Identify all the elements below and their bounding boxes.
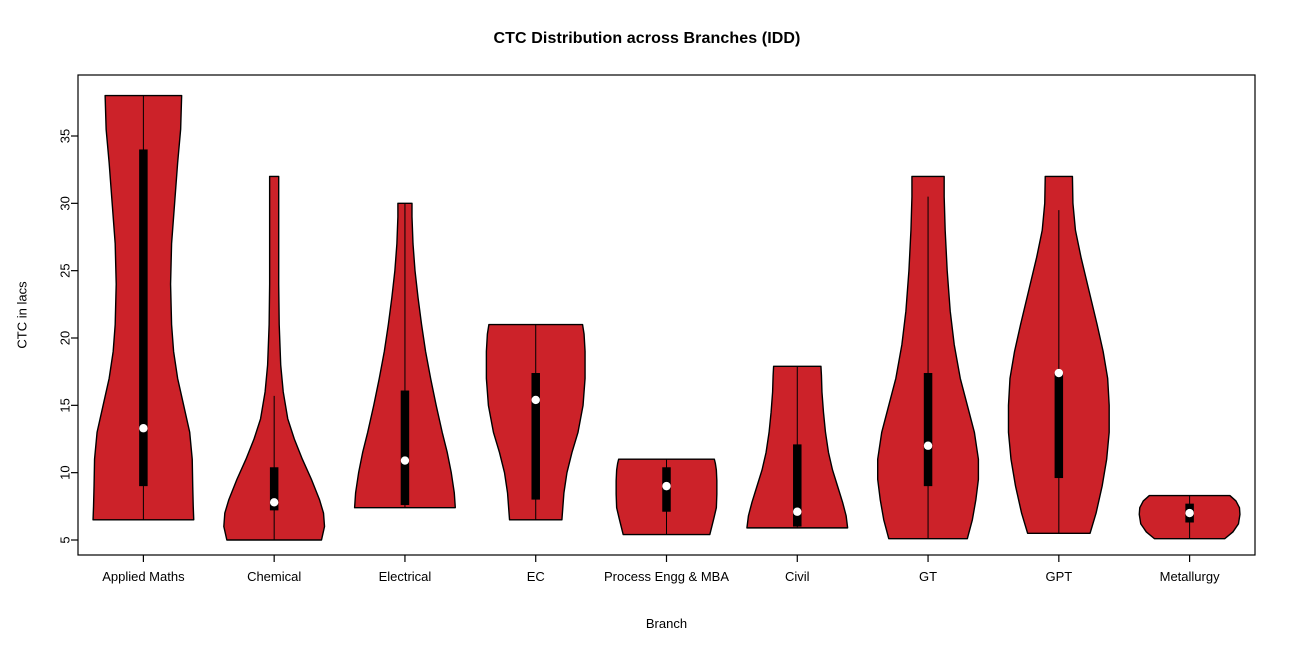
x-axis-tick-label: Civil — [785, 569, 810, 584]
y-axis-tick-label: 25 — [58, 263, 73, 277]
iqr-box — [531, 373, 540, 500]
median-point — [1185, 509, 1193, 517]
x-axis-tick-label: Electrical — [379, 569, 432, 584]
iqr-box — [401, 391, 410, 505]
y-axis-tick-label: 15 — [58, 398, 73, 412]
violin-chemical — [224, 176, 325, 540]
violin-gt — [878, 176, 979, 538]
y-axis-title: CTC in lacs — [15, 281, 30, 349]
x-axis-title: Branch — [646, 616, 687, 631]
x-axis-tick-label: Chemical — [247, 569, 301, 584]
y-axis-tick-label: 20 — [58, 331, 73, 345]
x-axis-tick-label: EC — [527, 569, 545, 584]
y-axis-tick-label: 30 — [58, 196, 73, 210]
y-axis-tick-label: 10 — [58, 465, 73, 479]
median-point — [401, 456, 409, 464]
median-point — [270, 498, 278, 506]
x-axis-tick-label: GT — [919, 569, 937, 584]
violin-plot-figure: CTC Distribution across Branches (IDD) 5… — [0, 0, 1294, 653]
x-axis-tick-label: GPT — [1045, 569, 1072, 584]
iqr-box — [924, 373, 933, 486]
median-point — [1055, 369, 1063, 377]
violin-ec — [486, 325, 585, 520]
violin-metallurgy — [1139, 496, 1240, 539]
median-point — [793, 508, 801, 516]
iqr-box — [139, 149, 148, 486]
x-axis-tick-label: Metallurgy — [1160, 569, 1220, 584]
median-point — [532, 396, 540, 404]
violin-process-engg-mba — [616, 459, 717, 534]
violin-applied-maths — [93, 96, 194, 520]
violin-gpt — [1008, 176, 1109, 533]
y-axis-tick-label: 35 — [58, 129, 73, 143]
iqr-box — [1055, 373, 1064, 478]
y-axis-tick-label: 5 — [58, 536, 73, 543]
x-axis-tick-label: Process Engg & MBA — [604, 569, 729, 584]
violin-electrical — [355, 203, 456, 507]
chart-canvas: 5101520253035CTC in lacsApplied MathsChe… — [0, 0, 1294, 653]
median-point — [139, 424, 147, 432]
median-point — [662, 482, 670, 490]
x-axis-tick-label: Applied Maths — [102, 569, 185, 584]
violin-civil — [747, 366, 848, 528]
median-point — [924, 442, 932, 450]
